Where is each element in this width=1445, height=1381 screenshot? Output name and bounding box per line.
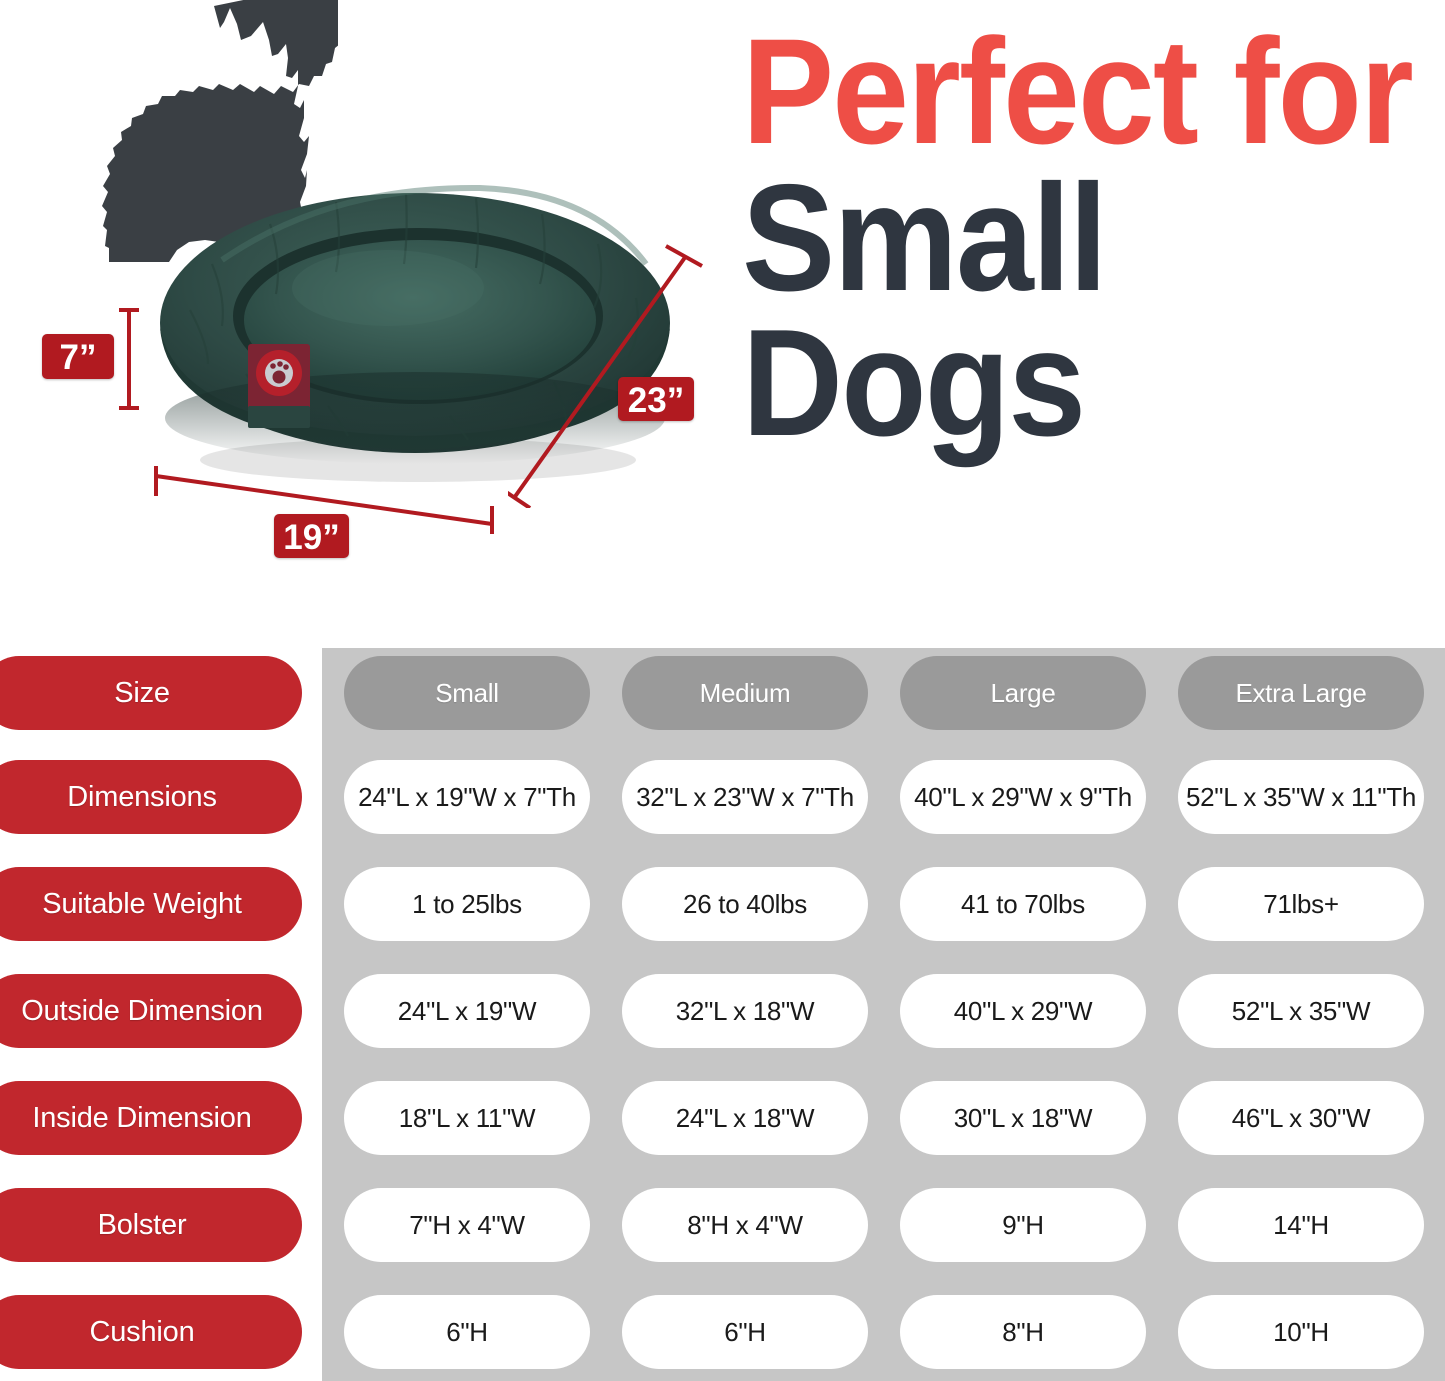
cell-inside-dimension-extra-large: 46"L x 30"W (1178, 1081, 1424, 1155)
cell-cushion-extra-large: 10"H (1178, 1295, 1424, 1369)
cell-cushion-large: 8"H (900, 1295, 1146, 1369)
cell-dimensions-small: 24"L x 19"W x 7"Th (344, 760, 590, 834)
table-row: Bolster 7"H x 4"W 8"H x 4"W 9"H 14"H (0, 1188, 1445, 1262)
row-label-dimensions: Dimensions (0, 760, 302, 834)
cell-outside-dimension-large: 40"L x 29"W (900, 974, 1146, 1048)
hero-section: 7” 19” 23” Perfect for Small Dogs (0, 0, 1445, 620)
headline-line-3: Dogs (742, 313, 1386, 454)
page-title: Perfect for Small Dogs (742, 22, 1442, 454)
row-cells-cushion: 6"H 6"H 8"H 10"H (344, 1295, 1424, 1369)
cell-bolster-large: 9"H (900, 1188, 1146, 1262)
height-callout-label: 7” (42, 334, 114, 379)
headline-line-1: Perfect for (742, 22, 1386, 162)
table-row: Outside Dimension 24"L x 19"W 32"L x 18"… (0, 974, 1445, 1048)
height-dimension-line (118, 306, 140, 412)
cell-bolster-medium: 8"H x 4"W (622, 1188, 868, 1262)
table-row: Cushion 6"H 6"H 8"H 10"H (0, 1295, 1445, 1369)
cell-suitable-weight-large: 41 to 70lbs (900, 867, 1146, 941)
cell-cushion-medium: 6"H (622, 1295, 868, 1369)
column-header-medium: Medium (622, 656, 868, 730)
cell-inside-dimension-medium: 24"L x 18"W (622, 1081, 868, 1155)
row-label-suitable-weight: Suitable Weight (0, 867, 302, 941)
cell-bolster-extra-large: 14"H (1178, 1188, 1424, 1262)
table-row: Suitable Weight 1 to 25lbs 26 to 40lbs 4… (0, 867, 1445, 941)
row-cells-bolster: 7"H x 4"W 8"H x 4"W 9"H 14"H (344, 1188, 1424, 1262)
column-header-extra-large: Extra Large (1178, 656, 1424, 730)
cell-bolster-small: 7"H x 4"W (344, 1188, 590, 1262)
cell-dimensions-large: 40"L x 29"W x 9"Th (900, 760, 1146, 834)
size-chart-grid: Size Small Medium Large Extra Large Dime… (0, 648, 1445, 1381)
cell-suitable-weight-small: 1 to 25lbs (344, 867, 590, 941)
row-cells-suitable-weight: 1 to 25lbs 26 to 40lbs 41 to 70lbs 71lbs… (344, 867, 1424, 941)
cell-cushion-small: 6"H (344, 1295, 590, 1369)
row-label-inside-dimension: Inside Dimension (0, 1081, 302, 1155)
cell-suitable-weight-extra-large: 71lbs+ (1178, 867, 1424, 941)
column-header-small: Small (344, 656, 590, 730)
infographic-root: 7” 19” 23” Perfect for Small Dogs Size (0, 0, 1445, 1381)
row-label-bolster: Bolster (0, 1188, 302, 1262)
table-row: Inside Dimension 18"L x 11"W 24"L x 18"W… (0, 1081, 1445, 1155)
table-row: Size Small Medium Large Extra Large (0, 656, 1445, 730)
row-label-size: Size (0, 656, 302, 730)
brand-tag (248, 344, 310, 428)
row-cells-outside-dimension: 24"L x 19"W 32"L x 18"W 40"L x 29"W 52"L… (344, 974, 1424, 1048)
depth-dimension-line (508, 240, 708, 508)
cell-outside-dimension-medium: 32"L x 18"W (622, 974, 868, 1048)
cell-suitable-weight-medium: 26 to 40lbs (622, 867, 868, 941)
width-callout-label: 19” (274, 514, 349, 558)
headline-line-2: Small (742, 168, 1386, 309)
cell-dimensions-extra-large: 52"L x 35"W x 11"Th (1178, 760, 1424, 834)
column-header-large: Large (900, 656, 1146, 730)
cell-outside-dimension-extra-large: 52"L x 35"W (1178, 974, 1424, 1048)
row-cells-inside-dimension: 18"L x 11"W 24"L x 18"W 30"L x 18"W 46"L… (344, 1081, 1424, 1155)
table-row: Dimensions 24"L x 19"W x 7"Th 32"L x 23"… (0, 760, 1445, 834)
row-cells-dimensions: 24"L x 19"W x 7"Th 32"L x 23"W x 7"Th 40… (344, 760, 1424, 834)
row-label-cushion: Cushion (0, 1295, 302, 1369)
cell-inside-dimension-small: 18"L x 11"W (344, 1081, 590, 1155)
cell-outside-dimension-small: 24"L x 19"W (344, 974, 590, 1048)
row-label-outside-dimension: Outside Dimension (0, 974, 302, 1048)
depth-callout-label: 23” (618, 377, 694, 421)
row-cells-size: Small Medium Large Extra Large (344, 656, 1424, 730)
cell-dimensions-medium: 32"L x 23"W x 7"Th (622, 760, 868, 834)
cell-inside-dimension-large: 30"L x 18"W (900, 1081, 1146, 1155)
